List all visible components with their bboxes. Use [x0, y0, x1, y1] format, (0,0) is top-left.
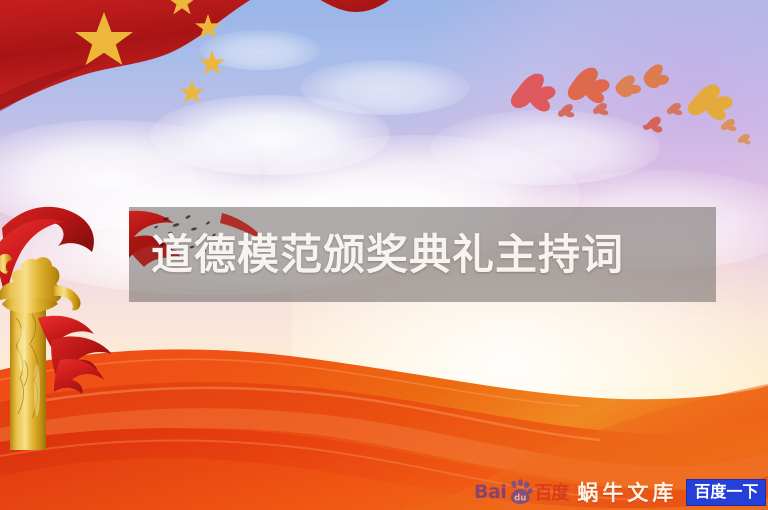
svg-text:du: du [514, 494, 526, 504]
watermark-bar: Bai du 百度 蜗牛文库 百度一下 [474, 477, 766, 507]
site-name-label: 蜗牛文库 [577, 477, 677, 507]
baidu-logo: Bai du 百度 [474, 479, 568, 505]
baidu-paw-icon: du [507, 479, 533, 505]
flying-doves-icon [495, 52, 765, 157]
baidu-logo-bai-text: Bai [474, 481, 506, 503]
baidu-logo-chinese-text: 百度 [534, 479, 568, 505]
baidu-search-button[interactable]: 百度一下 [686, 479, 766, 506]
title-banner: 道德模范颁奖典礼主持词 [129, 207, 716, 302]
page-title: 道德模范颁奖典礼主持词 [151, 234, 624, 276]
poster-image: 道德模范颁奖典礼主持词 Bai du 百度 蜗牛文库 百度一下 [0, 0, 768, 510]
chinese-national-flag-icon [0, 0, 410, 160]
